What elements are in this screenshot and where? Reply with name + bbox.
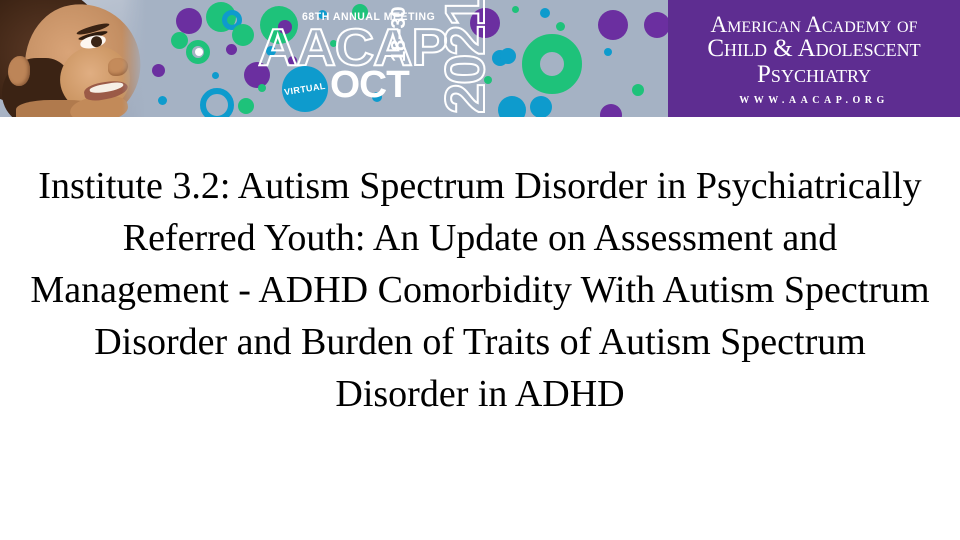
decorative-dot <box>258 84 266 92</box>
decorative-dot <box>158 96 167 105</box>
decorative-dot <box>530 96 552 117</box>
logo-website-url: WWW.AACAP.ORG <box>668 95 960 106</box>
aacap-logo-text: American Academy of Child & Adolescent P… <box>668 13 960 106</box>
decorative-dot <box>632 84 644 96</box>
photo-edge-fade <box>122 0 148 117</box>
decorative-dot <box>604 48 612 56</box>
decorative-dot <box>212 72 219 79</box>
conference-banner: 68TH ANNUAL MEETING AACAP 2021 OCT 18–30… <box>0 0 960 117</box>
banner-graphic-area: 68TH ANNUAL MEETING AACAP 2021 OCT 18–30… <box>0 0 668 117</box>
decorative-dot <box>171 32 188 49</box>
decorative-dot <box>540 8 550 18</box>
decorative-dot <box>500 48 516 64</box>
decorative-dot <box>226 44 237 55</box>
decorative-dot <box>176 8 202 34</box>
decorative-ring <box>200 88 234 117</box>
aacap-logo-panel: American Academy of Child & Adolescent P… <box>668 0 960 117</box>
decorative-ring <box>522 34 582 94</box>
logo-line-1: American Academy of <box>668 13 960 36</box>
virtual-badge-label: VIRTUAL <box>284 81 327 97</box>
logo-line-3: Psychiatry <box>668 62 960 88</box>
decorative-dot <box>600 104 622 117</box>
year-label: 2021 <box>437 0 493 114</box>
month-label: OCT <box>330 66 409 104</box>
decorative-dot <box>232 24 254 46</box>
decorative-dot <box>152 64 165 77</box>
ear-shape <box>8 56 30 86</box>
dates-label: 18–30 <box>388 6 411 62</box>
decorative-dot <box>644 12 668 38</box>
child-photo <box>0 0 148 117</box>
decorative-dot <box>498 96 526 117</box>
decorative-dot <box>598 10 628 40</box>
decorative-dot <box>238 98 254 114</box>
slide-title: Institute 3.2: Autism Spectrum Disorder … <box>30 160 930 420</box>
decorative-dot <box>556 22 565 31</box>
virtual-badge: VIRTUAL <box>282 66 328 112</box>
decorative-dot <box>512 6 519 13</box>
logo-line-2: Child & Adolescent <box>668 36 960 62</box>
slide: 68TH ANNUAL MEETING AACAP 2021 OCT 18–30… <box>0 0 960 540</box>
decorative-ring <box>186 40 210 64</box>
